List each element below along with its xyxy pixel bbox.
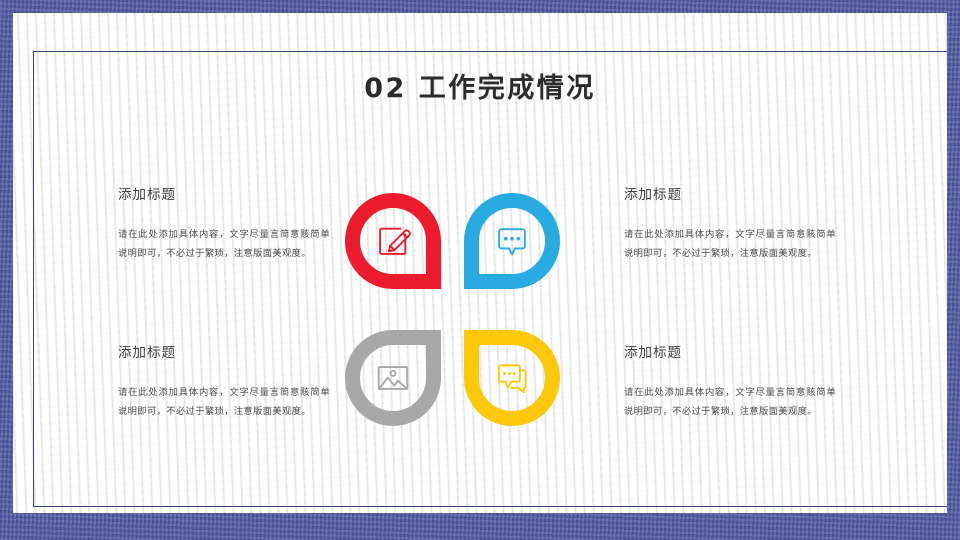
speech-bubble-icon [493, 222, 531, 260]
pin-icon-wrap [479, 345, 545, 411]
block-heading: 添加标题 [624, 183, 836, 203]
pin-icon-wrap [360, 208, 426, 274]
pin-icon-wrap [479, 208, 545, 274]
text-block-top-right: 添加标题 请在此处添加具体内容，文字尽量言简意赅简单说明即可，不必过于繁琐，注意… [624, 183, 836, 263]
text-block-bottom-right: 添加标题 请在此处添加具体内容，文字尽量言简意赅简单说明即可，不必过于繁琐，注意… [624, 341, 836, 421]
block-body: 请在此处添加具体内容，文字尽量言简意赅简单说明即可，不必过于繁琐，注意版面美观度… [118, 225, 330, 263]
pin-badge-pencil[interactable] [345, 193, 441, 289]
block-heading: 添加标题 [118, 183, 330, 203]
image-photo-icon [374, 359, 412, 397]
block-heading: 添加标题 [624, 341, 836, 361]
block-heading: 添加标题 [118, 341, 330, 361]
pin-icon-wrap [360, 345, 426, 411]
pin-badge-two-speech-bubbles[interactable] [464, 330, 560, 426]
pin-badge-image[interactable] [345, 330, 441, 426]
block-body: 请在此处添加具体内容，文字尽量言简意赅简单说明即可，不必过于繁琐，注意版面美观度… [118, 383, 330, 421]
pencil-edit-icon [374, 222, 412, 260]
page-title: 02 工作完成情况 [0, 66, 960, 105]
pin-badge-speech-bubble[interactable] [464, 193, 560, 289]
two-speech-bubbles-icon [493, 359, 531, 397]
text-block-top-left: 添加标题 请在此处添加具体内容，文字尽量言简意赅简单说明即可，不必过于繁琐，注意… [118, 183, 330, 263]
block-body: 请在此处添加具体内容，文字尽量言简意赅简单说明即可，不必过于繁琐，注意版面美观度… [624, 225, 836, 263]
block-body: 请在此处添加具体内容，文字尽量言简意赅简单说明即可，不必过于繁琐，注意版面美观度… [624, 383, 836, 421]
slide: 02 工作完成情况 添加标题 请在此处添加具体内容，文字尽量言简意赅简单说明即可… [0, 0, 960, 540]
text-block-bottom-left: 添加标题 请在此处添加具体内容，文字尽量言简意赅简单说明即可，不必过于繁琐，注意… [118, 341, 330, 421]
